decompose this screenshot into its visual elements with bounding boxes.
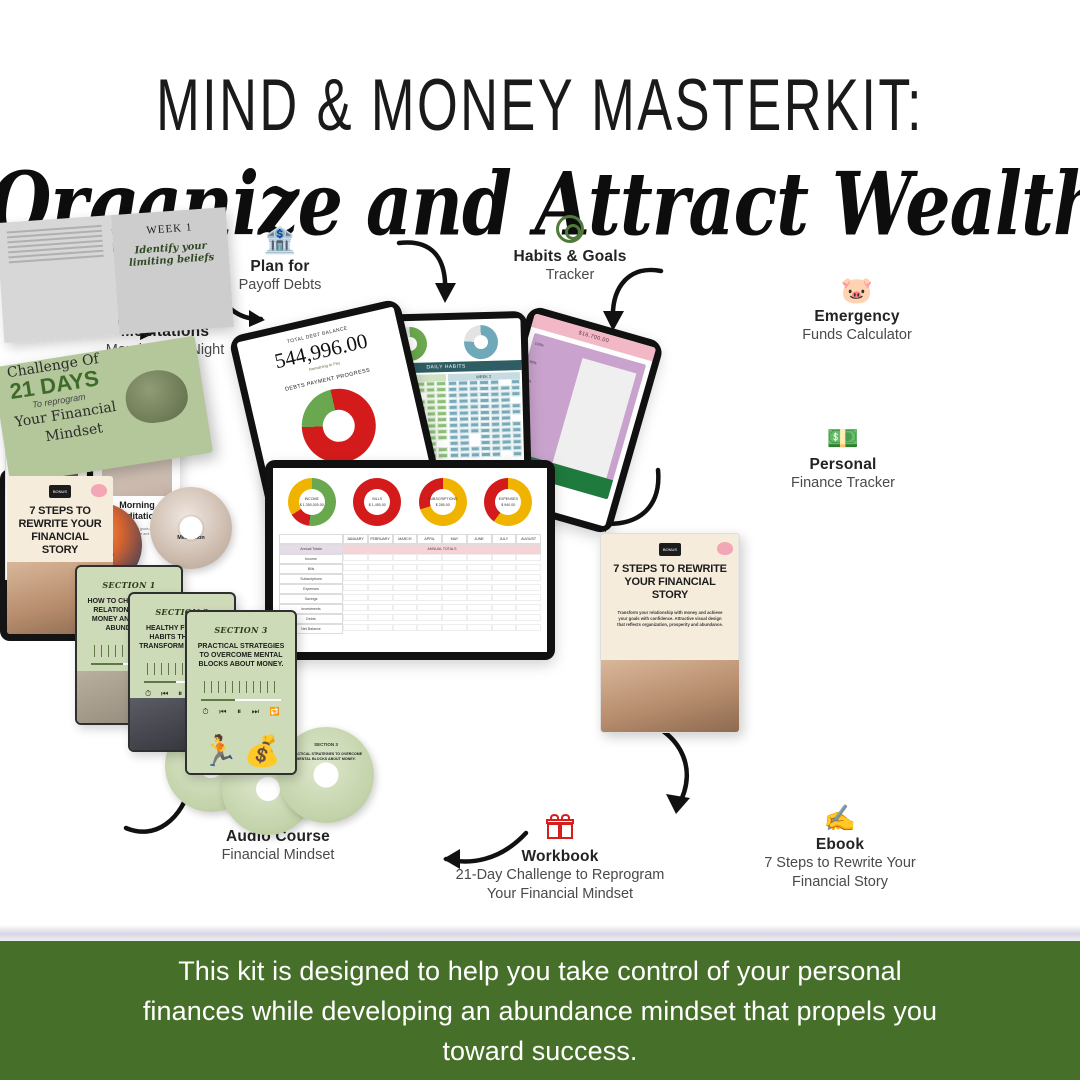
habit-cell[interactable] (481, 440, 491, 445)
piggy-bank-icon: 🐷 (742, 275, 972, 307)
habit-cell[interactable] (470, 440, 480, 445)
habit-cell[interactable] (479, 386, 489, 391)
habit-cell[interactable] (479, 380, 489, 385)
habit-cell[interactable] (459, 428, 469, 433)
progress-bar[interactable] (201, 699, 281, 701)
table-cell[interactable] (442, 624, 467, 631)
previous-icon[interactable]: ⏮ (219, 707, 226, 717)
habit-cell[interactable] (500, 385, 510, 390)
habit-cell[interactable] (470, 446, 480, 451)
habit-cell[interactable] (510, 379, 520, 384)
habit-cell[interactable] (501, 409, 511, 414)
debt-donut-chart (294, 382, 383, 471)
habit-cell[interactable] (469, 410, 479, 415)
gift-icon (410, 815, 710, 847)
table-cell[interactable] (442, 564, 467, 571)
habit-cell[interactable] (500, 397, 510, 402)
row-label: Income (279, 554, 343, 564)
table-cell[interactable] (343, 584, 368, 591)
donut-bills: BILLS$ 1,450.00 (353, 478, 401, 526)
habit-cell[interactable] (501, 421, 511, 426)
table-cell[interactable] (393, 594, 418, 601)
table-cell[interactable] (417, 624, 442, 631)
table-cell[interactable] (393, 554, 418, 561)
habit-cell[interactable] (512, 439, 522, 444)
habit-cell[interactable] (459, 404, 469, 409)
table-cell[interactable] (516, 594, 541, 601)
habit-cell[interactable] (437, 405, 447, 410)
table-cell[interactable] (417, 594, 442, 601)
table-cell[interactable] (442, 614, 467, 621)
table-cell[interactable] (467, 554, 492, 561)
label-subtitle: Finance Tracker (728, 474, 958, 493)
habit-cell[interactable] (490, 398, 500, 403)
table-cell[interactable] (417, 564, 442, 571)
habit-cell[interactable] (490, 386, 500, 391)
ebook-heading: 7 STEPS TO REWRITE YOUR FINANCIAL STORY (608, 563, 732, 602)
habit-cell[interactable] (448, 417, 458, 422)
habit-cell[interactable] (438, 441, 448, 446)
habit-cell[interactable] (512, 445, 522, 450)
card-photo: 🏃💰 (187, 721, 295, 773)
table-cell[interactable] (343, 554, 368, 561)
table-cell[interactable] (368, 614, 393, 621)
habit-cell[interactable] (426, 405, 436, 410)
habit-cell[interactable] (511, 409, 521, 414)
annual-label: ANNUAL TOTALS (343, 544, 541, 554)
row-label: Savings (279, 594, 343, 604)
label-subtitle: Tracker (455, 266, 685, 285)
row-header: Annual Totals (279, 544, 343, 554)
month-header: MAY (442, 534, 467, 544)
workbook-open-spread: WEEK 1 Identify your limiting beliefs (0, 207, 234, 343)
habit-cell[interactable] (490, 404, 500, 409)
habit-cell[interactable] (469, 386, 479, 391)
month-header: MARCH (393, 534, 418, 544)
habit-cell[interactable] (481, 446, 491, 451)
habit-cell[interactable] (448, 381, 458, 386)
table-cell[interactable] (492, 554, 517, 561)
table-row: Debts (279, 614, 541, 624)
habit-cell[interactable] (449, 441, 459, 446)
workbook-left-page (0, 215, 119, 343)
table-cell[interactable] (417, 554, 442, 561)
habit-cell[interactable] (479, 398, 489, 403)
habit-cell[interactable] (459, 434, 469, 439)
month-header: JANUARY (343, 534, 368, 544)
label-title: Emergency (742, 307, 972, 326)
donut-value: $ 940.00 (501, 502, 515, 508)
label-habits-goals: Habits & Goals Tracker (455, 215, 685, 285)
habit-cell[interactable] (480, 434, 490, 439)
month-header: APRIL (417, 534, 442, 544)
table-cell[interactable] (467, 594, 492, 601)
donut-income: INCOME$ 1,350,000.00 (288, 478, 336, 526)
habit-cell[interactable] (480, 410, 490, 415)
finance-spreadsheet: JANUARYFEBRUARYMARCHAPRILMAYJUNEJULYAUGU… (279, 534, 541, 634)
habit-cell[interactable] (511, 385, 521, 390)
table-cell[interactable] (417, 584, 442, 591)
21-day-challenge-cover: Challenge Of 21 DAYS To reprogram Your F… (0, 336, 213, 485)
donut-value: $ 1,450.00 (369, 502, 386, 508)
table-cell[interactable] (393, 574, 418, 581)
label-subtitle: Funds Calculator (742, 326, 972, 345)
habit-cell[interactable] (460, 440, 470, 445)
table-cell[interactable] (492, 564, 517, 571)
label-subtitle-2: Your Financial Mindset (410, 885, 710, 904)
workbook-right-page: WEEK 1 Identify your limiting beliefs (111, 207, 234, 335)
label-workbook: Workbook 21-Day Challenge to Reprogram Y… (410, 815, 710, 904)
habit-cell[interactable] (437, 429, 447, 434)
donut-value: $ 1,350,000.00 (300, 502, 324, 508)
table-cell[interactable] (393, 614, 418, 621)
label-emergency-funds: 🐷 Emergency Funds Calculator (742, 275, 972, 345)
ebook-hardcover: BONUS 7 STEPS TO REWRITE YOUR FINANCIAL … (600, 533, 740, 733)
habit-cell[interactable] (501, 415, 511, 420)
habit-cell[interactable] (491, 428, 501, 433)
label-subtitle: 21-Day Challenge to Reprogram (410, 866, 710, 885)
flying-money-icon: 💵 (728, 423, 958, 455)
table-row: Investments (279, 604, 541, 614)
habit-cell[interactable] (448, 393, 458, 398)
table-cell[interactable] (492, 614, 517, 621)
month-header: FEBRUARY (368, 534, 393, 544)
progress-tick: 90% (529, 360, 537, 366)
table-cell[interactable] (343, 624, 368, 631)
table-cell[interactable] (442, 594, 467, 601)
habit-cell[interactable] (512, 421, 522, 426)
habit-cell[interactable] (512, 451, 522, 456)
table-cell[interactable] (442, 574, 467, 581)
table-cell[interactable] (442, 554, 467, 561)
section-label: SECTION 1 (77, 580, 181, 590)
table-cell[interactable] (516, 604, 541, 611)
row-label: Bills (279, 564, 343, 574)
personal-finance-monitor: INCOME$ 1,350,000.00 BILLS$ 1,450.00 SUB… (265, 460, 555, 660)
habit-cell[interactable] (500, 379, 510, 384)
habit-cell[interactable] (436, 381, 446, 386)
table-cell[interactable] (492, 604, 517, 611)
habit-cell[interactable] (469, 398, 479, 403)
table-row: Expenses (279, 584, 541, 594)
donut-expenses: EXPENSES$ 940.00 (484, 478, 532, 526)
product-collage: Meditations Morning and Night 🏦 Plan for… (0, 215, 1080, 925)
cd-label: Meditation (150, 535, 232, 541)
table-cell[interactable] (343, 614, 368, 621)
piggy-bank-illustration (717, 542, 733, 555)
habit-cell[interactable] (491, 452, 501, 457)
table-cell[interactable] (467, 604, 492, 611)
table-cell[interactable] (393, 624, 418, 631)
habit-cell[interactable] (480, 422, 490, 427)
repeat-icon[interactable]: 🔁 (270, 707, 280, 717)
table-cell[interactable] (368, 574, 393, 581)
habit-cell[interactable] (438, 447, 448, 452)
table-cell[interactable] (368, 604, 393, 611)
table-cell[interactable] (467, 574, 492, 581)
table-cell[interactable] (516, 554, 541, 561)
habit-cell[interactable] (426, 417, 436, 422)
table-cell[interactable] (343, 594, 368, 601)
table-cell[interactable] (343, 574, 368, 581)
habit-cell[interactable] (459, 422, 469, 427)
text-lines (7, 225, 104, 264)
month-header: JULY (492, 534, 517, 544)
habits-week-2: WEEK 2 (447, 372, 522, 458)
donut-subscriptions: SUBSCRIPTIONS$ 280.00 (419, 478, 467, 526)
habit-cell[interactable] (481, 452, 491, 457)
habit-cell[interactable] (449, 435, 459, 440)
table-cell[interactable] (442, 604, 467, 611)
table-cell[interactable] (467, 584, 492, 591)
habit-cell[interactable] (436, 387, 446, 392)
habit-cell[interactable] (449, 453, 459, 458)
piggy-bank-illustration (91, 484, 107, 497)
table-cell[interactable] (467, 624, 492, 631)
habit-cell[interactable] (491, 446, 501, 451)
table-cell[interactable] (492, 574, 517, 581)
habit-cell[interactable] (502, 439, 512, 444)
habit-cell[interactable] (490, 410, 500, 415)
habit-cell[interactable] (512, 427, 522, 432)
table-cell[interactable] (368, 554, 393, 561)
footer-banner: This kit is designed to help you take co… (0, 941, 1080, 1080)
habit-cell[interactable] (491, 440, 501, 445)
habit-cell[interactable] (426, 411, 436, 416)
table-cell[interactable] (393, 604, 418, 611)
habit-cell[interactable] (436, 393, 446, 398)
habit-cell[interactable] (480, 428, 490, 433)
habit-cell[interactable] (426, 393, 436, 398)
habit-cell[interactable] (458, 386, 468, 391)
timer-icon[interactable]: ⏱ (202, 707, 208, 717)
habit-cell[interactable] (502, 451, 512, 456)
donut-value: $ 280.00 (436, 502, 450, 508)
section-label: SECTION 3 (187, 625, 295, 635)
habits-donut-right (464, 325, 499, 360)
habit-cell[interactable] (437, 435, 447, 440)
habit-cell[interactable] (459, 410, 469, 415)
habit-cell[interactable] (512, 433, 522, 438)
habit-cell[interactable] (458, 392, 468, 397)
habit-cell[interactable] (470, 422, 480, 427)
table-cell[interactable] (467, 614, 492, 621)
habit-cell[interactable] (511, 397, 521, 402)
habit-cell[interactable] (470, 434, 480, 439)
habit-cell[interactable] (460, 452, 470, 457)
habit-cell[interactable] (459, 416, 469, 421)
label-title: Personal (728, 455, 958, 474)
habit-cell[interactable] (437, 417, 447, 422)
habit-cell[interactable] (437, 423, 447, 428)
table-cell[interactable] (516, 564, 541, 571)
writing-hand-icon: ✍️ (725, 803, 955, 835)
habit-cell[interactable] (458, 398, 468, 403)
promo-graphic: MIND & MONEY MASTERKIT: Organize and Att… (0, 0, 1080, 1080)
table-cell[interactable] (368, 594, 393, 601)
week-heading: WEEK 1 (112, 219, 228, 239)
table-cell[interactable] (467, 564, 492, 571)
ebook-paragraph: Transform your relationship with money a… (615, 610, 725, 628)
month-header: JUNE (467, 534, 492, 544)
habit-cell[interactable] (449, 447, 459, 452)
habit-cell[interactable] (479, 392, 489, 397)
label-subtitle-2: Financial Story (725, 873, 955, 892)
table-cell[interactable] (343, 564, 368, 571)
table-cell[interactable] (516, 614, 541, 621)
habit-cell[interactable] (491, 422, 501, 427)
habit-cell[interactable] (460, 446, 470, 451)
table-cell[interactable] (393, 584, 418, 591)
habit-cell[interactable] (470, 428, 480, 433)
habit-cell[interactable] (469, 392, 479, 397)
table-cell[interactable] (516, 584, 541, 591)
table-row: Income (279, 554, 541, 564)
progress-tick: 100% (534, 342, 544, 348)
bonus-badge: BONUS (659, 543, 681, 556)
finance-donut-row: INCOME$ 1,350,000.00 BILLS$ 1,450.00 SUB… (273, 468, 547, 530)
table-row: Savings (279, 594, 541, 604)
habit-cell[interactable] (501, 403, 511, 408)
habit-cell[interactable] (458, 380, 468, 385)
table-row: Subscriptions (279, 574, 541, 584)
habit-cell[interactable] (438, 453, 448, 458)
table-cell[interactable] (417, 574, 442, 581)
label-title: Workbook (410, 847, 710, 866)
table-cell[interactable] (393, 564, 418, 571)
audio-controls[interactable]: ⏱ ⏮ ⏸ ⏭ 🔁 (197, 707, 285, 717)
next-icon[interactable]: ⏭ (252, 707, 259, 717)
habit-cell[interactable] (511, 415, 521, 420)
habit-cell[interactable] (511, 403, 521, 408)
bonus-badge: BONUS (49, 485, 71, 498)
habit-cell[interactable] (511, 391, 521, 396)
label-ebook: ✍️ Ebook 7 Steps to Rewrite Your Financi… (725, 803, 955, 892)
habit-cell[interactable] (500, 391, 510, 396)
habit-cell[interactable] (448, 411, 458, 416)
ebook-photo (601, 660, 739, 732)
habit-cell[interactable] (501, 427, 511, 432)
table-cell[interactable] (516, 624, 541, 631)
habit-cell[interactable] (490, 416, 500, 421)
habit-cell[interactable] (480, 404, 490, 409)
page-title-primary: MIND & MONEY MASTERKIT: (16, 64, 1064, 148)
habits-grid (448, 379, 522, 458)
month-header: AUGUST (516, 534, 541, 544)
runner-icon: 🏃 (201, 737, 238, 767)
month-header-row: JANUARYFEBRUARYMARCHAPRILMAYJUNEJULYAUGU… (279, 534, 541, 544)
table-cell[interactable] (417, 604, 442, 611)
cd-section-text: PRACTICAL STRATEGIES TO OVERCOME MENTAL … (286, 752, 367, 761)
table-cell[interactable] (516, 574, 541, 581)
ebook-heading: 7 STEPS TO REWRITE YOUR FINANCIAL STORY (14, 505, 106, 557)
table-cell[interactable] (417, 614, 442, 621)
habit-cell[interactable] (502, 445, 512, 450)
section-divider (0, 925, 1080, 941)
section-text: PRACTICAL STRATEGIES TO OVERCOME MENTAL … (195, 642, 287, 669)
table-cell[interactable] (368, 564, 393, 571)
monitor-screen: INCOME$ 1,350,000.00 BILLS$ 1,450.00 SUB… (273, 468, 547, 652)
target-icon (455, 215, 685, 247)
habit-cell[interactable] (437, 411, 447, 416)
table-row: Net Balance (279, 624, 541, 634)
money-runner-icon: 💰 (244, 737, 281, 767)
morning-meditation-cd: Meditation (150, 487, 232, 569)
habit-cell[interactable] (468, 380, 478, 385)
label-subtitle: 7 Steps to Rewrite Your (725, 854, 955, 873)
footer-text: This kit is designed to help you take co… (125, 951, 955, 1071)
habit-cell[interactable] (448, 399, 458, 404)
habit-cell[interactable] (426, 399, 436, 404)
habit-cell[interactable] (448, 405, 458, 410)
spreadsheet-rows: IncomeBillsSubscriptionsExpensesSavingsI… (279, 554, 541, 634)
table-row: Bills (279, 564, 541, 574)
habit-cell[interactable] (470, 452, 480, 457)
row-label: Expenses (279, 584, 343, 594)
table-cell[interactable] (343, 604, 368, 611)
habit-cell[interactable] (426, 387, 436, 392)
habit-cell[interactable] (436, 399, 446, 404)
habit-cell[interactable] (469, 404, 479, 409)
label-personal-finance: 💵 Personal Finance Tracker (728, 423, 958, 493)
habit-cell[interactable] (491, 434, 501, 439)
habit-cell[interactable] (449, 423, 459, 428)
label-title: Habits & Goals (455, 247, 685, 266)
row-label: Subscriptions (279, 574, 343, 584)
label-subtitle: Financial Mindset (163, 846, 393, 865)
label-title: Ebook (725, 835, 955, 854)
audio-card-section-3: SECTION 3 PRACTICAL STRATEGIES TO OVERCO… (185, 610, 297, 775)
table-cell[interactable] (492, 594, 517, 601)
waveform (201, 681, 281, 693)
habit-cell[interactable] (469, 416, 479, 421)
table-cell[interactable] (492, 584, 517, 591)
week-subheading: Identify your limiting beliefs (125, 240, 217, 270)
habit-cell[interactable] (448, 387, 458, 392)
pause-icon[interactable]: ⏸ (237, 707, 241, 717)
table-cell[interactable] (492, 624, 517, 631)
table-cell[interactable] (442, 584, 467, 591)
annual-row: Annual Totals ANNUAL TOTALS (279, 544, 541, 554)
habit-cell[interactable] (426, 381, 436, 386)
habit-cell[interactable] (501, 433, 511, 438)
header: MIND & MONEY MASTERKIT: Organize and Att… (0, 0, 1080, 220)
habit-cell[interactable] (490, 392, 500, 397)
habit-cell[interactable] (449, 429, 459, 434)
habit-cell[interactable] (489, 380, 499, 385)
table-cell[interactable] (368, 584, 393, 591)
habit-cell[interactable] (480, 416, 490, 421)
table-cell[interactable] (368, 624, 393, 631)
